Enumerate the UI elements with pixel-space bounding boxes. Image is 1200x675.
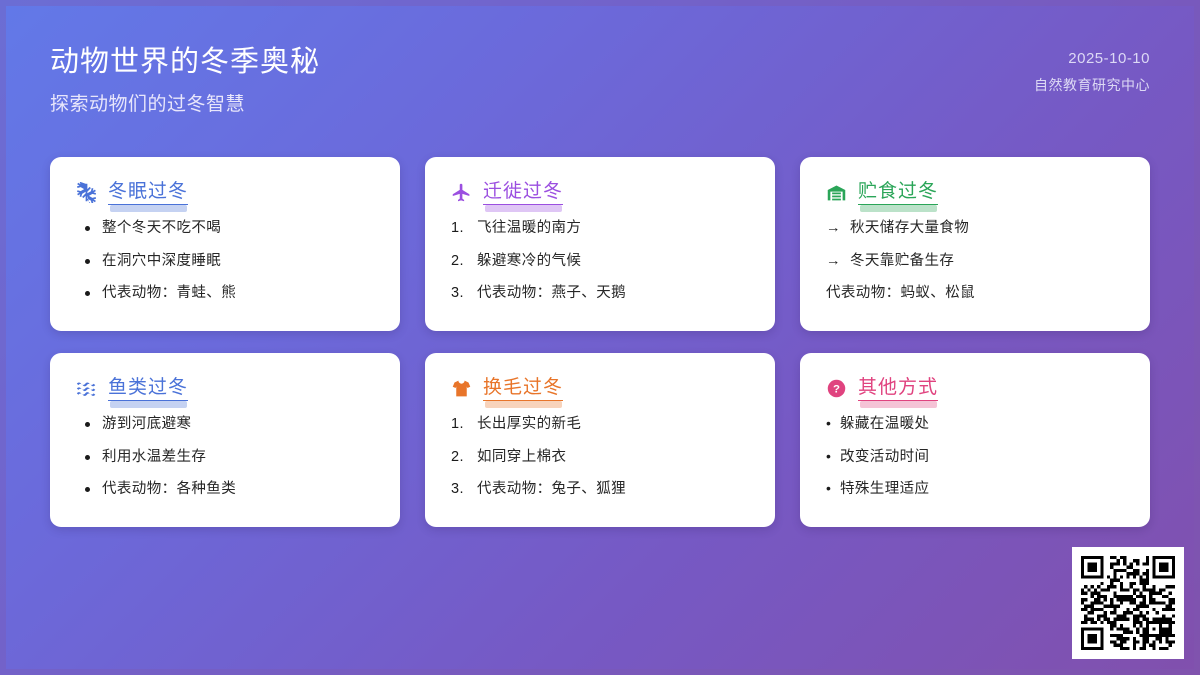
card-header: 鱼类过冬 bbox=[76, 377, 374, 400]
snowflake-icon bbox=[76, 182, 97, 203]
card-title-wrap: 其他方式 bbox=[858, 377, 938, 400]
list-item: 代表动物：各种鱼类 bbox=[76, 479, 374, 501]
slide-header: 动物世界的冬季奥秘 探索动物们的过冬智慧 2025-10-10 自然教育研究中心 bbox=[50, 44, 1150, 116]
list-item: 特殊生理适应 bbox=[826, 479, 1124, 501]
date-label: 2025-10-10 bbox=[1034, 50, 1150, 67]
card-title[interactable]: 鱼类过冬 bbox=[108, 377, 188, 401]
card-snowflake: 冬眠过冬整个冬天不吃不喝在洞穴中深度睡眠代表动物：青蛙、熊 bbox=[50, 157, 400, 331]
card-title[interactable]: 迁徙过冬 bbox=[483, 181, 563, 205]
card-header: 冬眠过冬 bbox=[76, 181, 374, 204]
title-highlight-bar bbox=[110, 401, 187, 408]
list-item: 利用水温差生存 bbox=[76, 447, 374, 469]
list-item: 躲藏在温暖处 bbox=[826, 414, 1124, 436]
list-item: 飞往温暖的南方 bbox=[451, 218, 749, 240]
organization-label: 自然教育研究中心 bbox=[1034, 75, 1150, 95]
slide-root: 动物世界的冬季奥秘 探索动物们的过冬智慧 2025-10-10 自然教育研究中心… bbox=[0, 0, 1200, 675]
card-list: 游到河底避寒利用水温差生存代表动物：各种鱼类 bbox=[76, 414, 374, 501]
svg-text:?: ? bbox=[833, 383, 840, 395]
card-list: 长出厚实的新毛如同穿上棉衣代表动物：兔子、狐狸 bbox=[451, 414, 749, 501]
card-title-wrap: 冬眠过冬 bbox=[108, 181, 188, 204]
qr-code-image bbox=[1081, 556, 1175, 650]
list-item: 如同穿上棉衣 bbox=[451, 447, 749, 469]
warehouse-icon bbox=[826, 182, 847, 203]
card-wave: 鱼类过冬游到河底避寒利用水温差生存代表动物：各种鱼类 bbox=[50, 353, 400, 527]
card-header: 贮食过冬 bbox=[826, 181, 1124, 204]
list-item: 在洞穴中深度睡眠 bbox=[76, 251, 374, 273]
card-tshirt: 换毛过冬长出厚实的新毛如同穿上棉衣代表动物：兔子、狐狸 bbox=[425, 353, 775, 527]
title-highlight-bar bbox=[485, 205, 562, 212]
page-subtitle: 探索动物们的过冬智慧 bbox=[50, 89, 320, 116]
list-item: 代表动物：燕子、天鹅 bbox=[451, 283, 749, 305]
wave-icon bbox=[76, 378, 97, 399]
card-title-wrap: 迁徙过冬 bbox=[483, 181, 563, 204]
card-header: ?其他方式 bbox=[826, 377, 1124, 400]
card-title[interactable]: 贮食过冬 bbox=[858, 181, 938, 205]
list-item: 长出厚实的新毛 bbox=[451, 414, 749, 436]
title-highlight-bar bbox=[110, 205, 187, 212]
card-question-circle: ?其他方式躲藏在温暖处改变活动时间特殊生理适应 bbox=[800, 353, 1150, 527]
card-header: 换毛过冬 bbox=[451, 377, 749, 400]
list-item: 整个冬天不吃不喝 bbox=[76, 218, 374, 240]
title-highlight-bar bbox=[860, 401, 937, 408]
page-title: 动物世界的冬季奥秘 bbox=[50, 44, 320, 80]
list-item: 冬天靠贮备生存 bbox=[826, 251, 1124, 273]
card-header: 迁徙过冬 bbox=[451, 181, 749, 204]
qr-code[interactable] bbox=[1072, 547, 1184, 659]
question-circle-icon: ? bbox=[826, 378, 847, 399]
list-item: 游到河底避寒 bbox=[76, 414, 374, 436]
card-title-wrap: 鱼类过冬 bbox=[108, 377, 188, 400]
list-item: 代表动物：蚂蚁、松鼠 bbox=[826, 283, 1124, 305]
title-block: 动物世界的冬季奥秘 探索动物们的过冬智慧 bbox=[50, 44, 320, 116]
list-item: 代表动物：兔子、狐狸 bbox=[451, 479, 749, 501]
list-item: 秋天储存大量食物 bbox=[826, 218, 1124, 240]
title-highlight-bar bbox=[860, 205, 937, 212]
card-warehouse: 贮食过冬秋天储存大量食物冬天靠贮备生存代表动物：蚂蚁、松鼠 bbox=[800, 157, 1150, 331]
list-item: 躲避寒冷的气候 bbox=[451, 251, 749, 273]
card-title[interactable]: 换毛过冬 bbox=[483, 377, 563, 401]
card-title[interactable]: 其他方式 bbox=[858, 377, 938, 401]
card-list: 飞往温暖的南方躲避寒冷的气候代表动物：燕子、天鹅 bbox=[451, 218, 749, 305]
list-item: 代表动物：青蛙、熊 bbox=[76, 283, 374, 305]
card-title[interactable]: 冬眠过冬 bbox=[108, 181, 188, 205]
card-list: 整个冬天不吃不喝在洞穴中深度睡眠代表动物：青蛙、熊 bbox=[76, 218, 374, 305]
card-list: 秋天储存大量食物冬天靠贮备生存代表动物：蚂蚁、松鼠 bbox=[826, 218, 1124, 305]
list-item: 改变活动时间 bbox=[826, 447, 1124, 469]
card-grid: 冬眠过冬整个冬天不吃不喝在洞穴中深度睡眠代表动物：青蛙、熊迁徙过冬飞往温暖的南方… bbox=[50, 157, 1150, 527]
card-title-wrap: 贮食过冬 bbox=[858, 181, 938, 204]
card-list: 躲藏在温暖处改变活动时间特殊生理适应 bbox=[826, 414, 1124, 501]
tshirt-icon bbox=[451, 378, 472, 399]
title-highlight-bar bbox=[485, 401, 562, 408]
card-airplane: 迁徙过冬飞往温暖的南方躲避寒冷的气候代表动物：燕子、天鹅 bbox=[425, 157, 775, 331]
meta-block: 2025-10-10 自然教育研究中心 bbox=[1034, 44, 1150, 95]
airplane-icon bbox=[451, 182, 472, 203]
card-title-wrap: 换毛过冬 bbox=[483, 377, 563, 400]
